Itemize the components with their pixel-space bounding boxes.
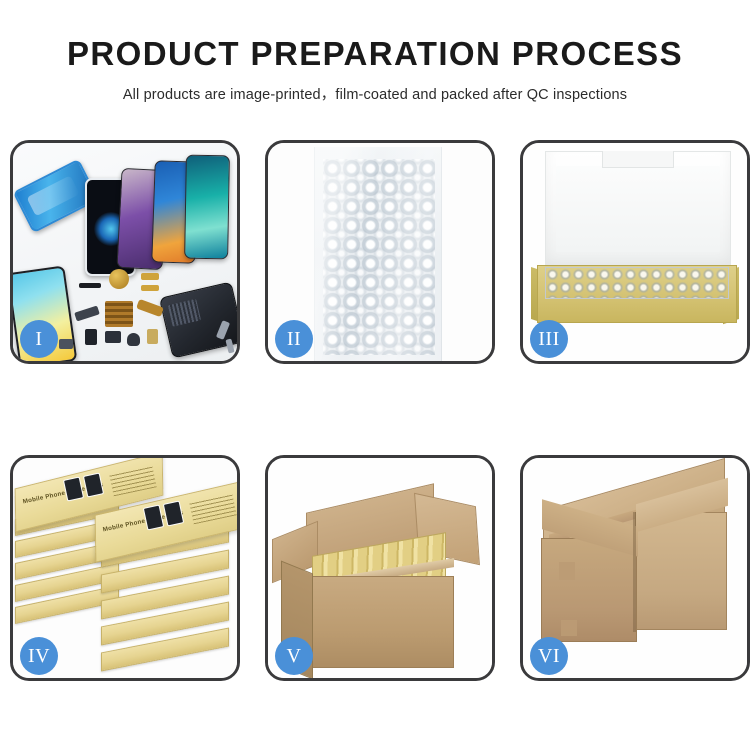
- carton-left-face: [541, 538, 637, 642]
- carton-flap-tab: [561, 620, 577, 636]
- spare-part-speaker: [109, 269, 129, 289]
- spare-part-mesh: [105, 301, 133, 327]
- panel-inner-box: III: [520, 140, 750, 364]
- header: PRODUCT PREPARATION PROCESS All products…: [0, 0, 750, 104]
- spare-part-button: [85, 329, 97, 345]
- step-badge-2: II: [275, 320, 313, 358]
- phone-back-panel-motherboard: [159, 281, 237, 358]
- box-lid-white: [545, 151, 731, 271]
- spare-part-vibrator: [127, 333, 140, 346]
- step-badge-6: VI: [530, 637, 568, 675]
- carton-edge-seam: [633, 512, 636, 632]
- process-panel-grid: I II III: [10, 140, 740, 681]
- spare-part-bracket: [74, 306, 100, 322]
- product-preparation-infographic: PRODUCT PREPARATION PROCESS All products…: [0, 0, 750, 750]
- step-badge-5: V: [275, 637, 313, 675]
- panel-products: I: [10, 140, 240, 364]
- spare-part-chip: [59, 339, 73, 349]
- carton-flap-tab: [559, 562, 575, 580]
- bubble-wrapped-contents: [545, 267, 729, 299]
- spare-part-flex-strip: [141, 273, 159, 280]
- carton-right-face: [635, 512, 727, 630]
- bubble-pouch: [314, 147, 442, 361]
- page-title: PRODUCT PREPARATION PROCESS: [0, 36, 750, 72]
- carton-body: [304, 576, 454, 668]
- phone-screen-teal: [184, 155, 230, 260]
- bubble-texture: [323, 159, 435, 355]
- panel-sealed-carton: VI: [520, 455, 750, 681]
- panel-carton-packing: V: [265, 455, 495, 681]
- spare-part-connector: [79, 283, 101, 288]
- panel-bubble-wrap: II: [265, 140, 495, 364]
- page-subtitle: All products are image-printed，film-coat…: [0, 83, 750, 104]
- panel-retail-boxes: Mobile Phone Spare Parts Mobile Phone Sp…: [10, 455, 240, 681]
- step-badge-3: III: [530, 320, 568, 358]
- spare-part-sim-tray: [147, 329, 158, 344]
- spare-part-flex-strip: [141, 285, 159, 291]
- step-badge-4: IV: [20, 637, 58, 675]
- spare-part-camera: [105, 331, 121, 343]
- step-badge-1: I: [20, 320, 58, 358]
